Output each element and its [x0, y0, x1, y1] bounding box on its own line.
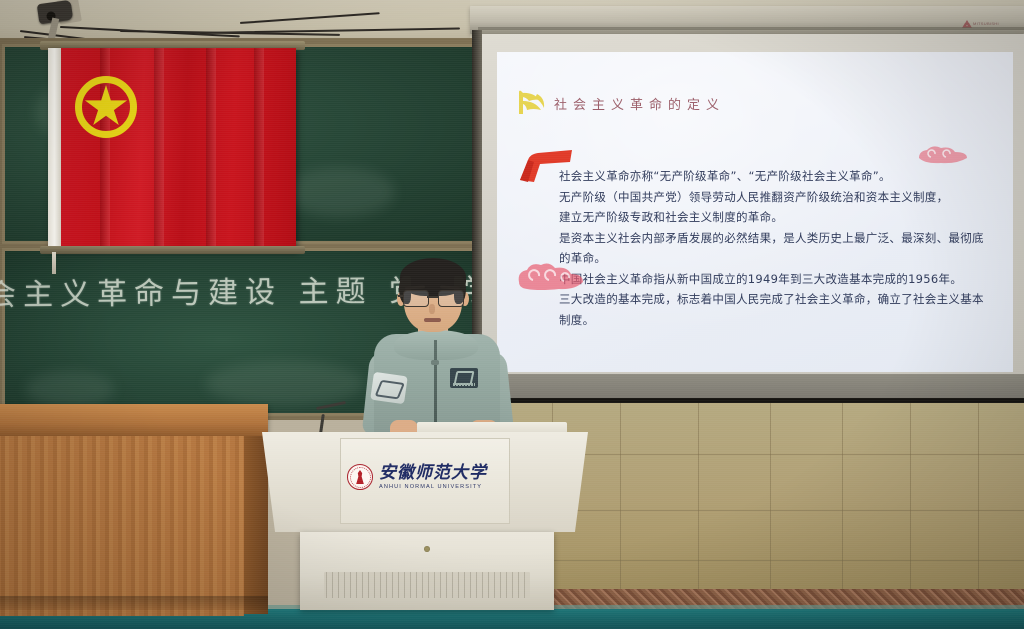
- youth-league-flag: [48, 48, 296, 250]
- screen-bottom-bar: [472, 374, 1024, 400]
- mitsubishi-brand-text: MITSUBISHI: [973, 21, 999, 26]
- podium-base: [300, 532, 554, 610]
- security-camera: [28, 0, 88, 42]
- hoodie-chest-logo: [450, 368, 478, 388]
- mitsubishi-diamond-icon: [962, 20, 970, 27]
- party-emblem-icon: [513, 88, 549, 118]
- slide-line: 社会主义革命亦称“无产阶级革命”、“无产阶级社会主义革命”。: [559, 166, 989, 187]
- slide-line: 制度。: [559, 310, 989, 331]
- auspicious-cloud-right-icon: [917, 144, 969, 166]
- blackboard-chalk-text: 会主义革命与建设 主题 党史学: [0, 266, 416, 315]
- screen-bottom-edge: [472, 398, 1024, 403]
- presenter-mouth: [424, 318, 441, 322]
- university-logo: 安徽师范大学 ANHUI NORMAL UNIVERSITY: [347, 458, 507, 496]
- slide-line: 是资本主义社会内部矛盾发展的必然结果，是人类历史上最广泛、最深刻、最彻底: [559, 228, 989, 249]
- teachers-desk-top: [0, 404, 268, 436]
- housing-shadow-line: [478, 27, 1024, 30]
- podium-vent-slats: [324, 572, 530, 598]
- slide-title: 社会主义革命的定义: [554, 94, 725, 113]
- slide-line: 中国社会主义革命指从新中国成立的1949年到三大改造基本完成的1956年。: [559, 269, 989, 290]
- teachers-desk-front: [0, 436, 244, 616]
- desk-shadow: [0, 596, 268, 610]
- hoodie-sleeve-patch: [370, 372, 408, 404]
- flag-tassel: [52, 252, 56, 274]
- university-name-zh: 安徽师范大学: [379, 465, 487, 482]
- slide-body-text: 社会主义革命亦称“无产阶级革命”、“无产阶级社会主义革命”。 无产阶级（中国共产…: [559, 166, 989, 330]
- flag-hoist-band: [48, 48, 61, 250]
- university-seal-icon: [347, 464, 373, 490]
- slide-line: 建立无产阶级专政和社会主义制度的革命。: [559, 207, 989, 228]
- slide-line: 三大改造的基本完成，标志着中国人民完成了社会主义革命，确立了社会主义基本: [559, 289, 989, 310]
- teachers-desk-side: [244, 436, 268, 614]
- classroom-photo-scene: 会主义革命与建设 主题 党史学 MITSUBISHI: [0, 0, 1024, 629]
- slide-line: 无产阶级（中国共产党）领导劳动人民推翻资产阶级统治和资本主义制度，: [559, 187, 989, 208]
- presenter-nose: [429, 304, 435, 314]
- hoodie-zipper-pull: [431, 360, 439, 365]
- podium-lock-knob: [424, 546, 430, 552]
- university-name-en: ANHUI NORMAL UNIVERSITY: [379, 484, 487, 490]
- slide-line: 的革命。: [559, 248, 989, 269]
- presentation-slide: 社会主义革命的定义 社会主义革命亦称“无产阶级革命”、“无产阶级社会主义革命”。…: [497, 52, 1013, 372]
- presenter: [366, 256, 526, 436]
- flag-rod-bottom: [40, 246, 305, 254]
